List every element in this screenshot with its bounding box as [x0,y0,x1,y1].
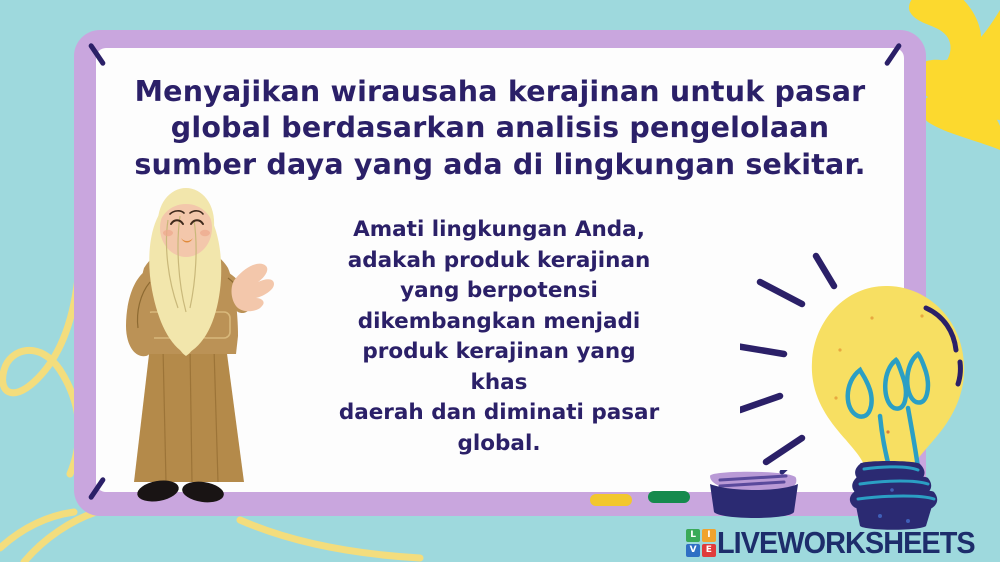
yellow-squiggle-decoration-bottom [240,520,420,558]
logo-tile-e: E [702,544,716,557]
bulb-base [850,461,937,530]
teacher-illustration [108,186,293,506]
liveworksheets-logo[interactable]: L I V E LIVEWORKSHEETS [686,526,994,560]
slide-canvas: Menyajikan wirausaha kerajinan untuk pas… [0,0,1000,562]
desk-objects-illustration [570,470,840,530]
liveworksheets-logo-icon: L I V E [686,529,716,557]
logo-tile-i: I [702,529,716,542]
logo-tile-v: V [686,544,700,557]
logo-tile-l: L [686,529,700,542]
liveworksheets-wordmark: LIVEWORKSHEETS [717,525,975,561]
